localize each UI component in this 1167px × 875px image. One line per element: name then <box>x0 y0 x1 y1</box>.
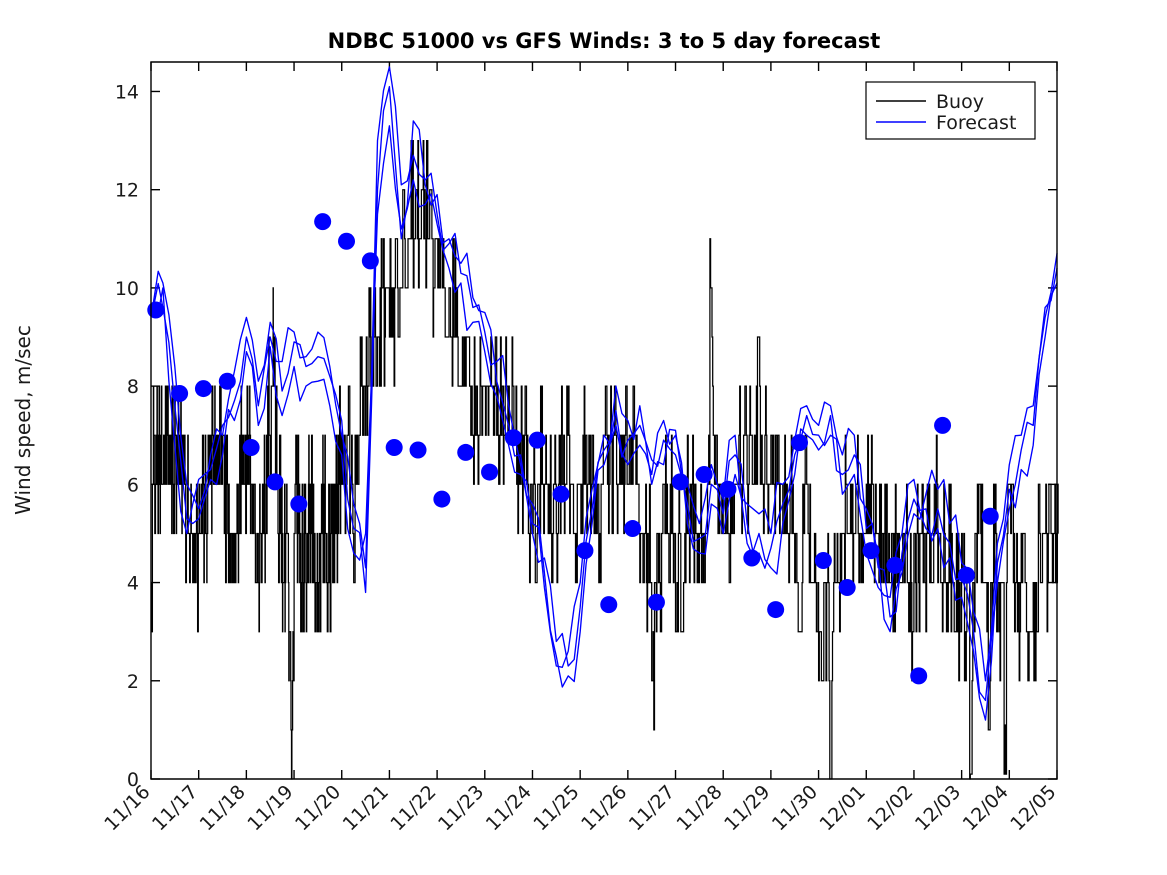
y-tick-label: 12 <box>115 180 139 202</box>
scatter-point <box>767 601 784 618</box>
y-tick-label: 14 <box>115 81 139 103</box>
scatter-point <box>624 520 641 537</box>
y-tick-label: 10 <box>115 278 139 300</box>
y-tick-label: 2 <box>127 671 139 693</box>
scatter-point <box>958 567 975 584</box>
scatter-point <box>815 552 832 569</box>
scatter-point <box>553 486 570 503</box>
scatter-point <box>505 429 522 446</box>
scatter-point <box>791 434 808 451</box>
scatter-point <box>147 302 164 319</box>
scatter-point <box>338 233 355 250</box>
scatter-point <box>696 466 713 483</box>
scatter-point <box>982 508 999 525</box>
scatter-point <box>839 579 856 596</box>
scatter-point <box>433 491 450 508</box>
scatter-point <box>600 596 617 613</box>
y-tick-label: 4 <box>127 573 139 595</box>
scatter-point <box>171 385 188 402</box>
scatter-point <box>529 432 546 449</box>
scatter-point <box>290 495 307 512</box>
y-tick-label: 8 <box>127 376 139 398</box>
scatter-point <box>743 550 760 567</box>
scatter-point <box>886 557 903 574</box>
scatter-point <box>934 417 951 434</box>
scatter-point <box>386 439 403 456</box>
scatter-point <box>266 473 283 490</box>
scatter-point <box>195 380 212 397</box>
scatter-point <box>362 252 379 269</box>
scatter-point <box>719 481 736 498</box>
legend-label-buoy: Buoy <box>936 91 984 113</box>
scatter-point <box>863 542 880 559</box>
scatter-point <box>457 444 474 461</box>
wind-speed-chart: NDBC 51000 vs GFS Winds: 3 to 5 day fore… <box>0 0 1167 875</box>
y-axis-label: Wind speed, m/sec <box>11 325 35 515</box>
chart-legend[interactable]: Buoy Forecast <box>866 82 1035 139</box>
chart-title: NDBC 51000 vs GFS Winds: 3 to 5 day fore… <box>328 29 881 53</box>
scatter-point <box>910 667 927 684</box>
scatter-point <box>219 373 236 390</box>
scatter-point <box>576 542 593 559</box>
legend-label-forecast: Forecast <box>936 112 1016 134</box>
scatter-point <box>243 439 260 456</box>
scatter-point <box>648 594 665 611</box>
scatter-point <box>314 213 331 230</box>
chart-figure: NDBC 51000 vs GFS Winds: 3 to 5 day fore… <box>0 0 1167 875</box>
scatter-point <box>481 464 498 481</box>
scatter-point <box>672 473 689 490</box>
y-tick-label: 6 <box>127 474 139 496</box>
scatter-point <box>410 441 427 458</box>
